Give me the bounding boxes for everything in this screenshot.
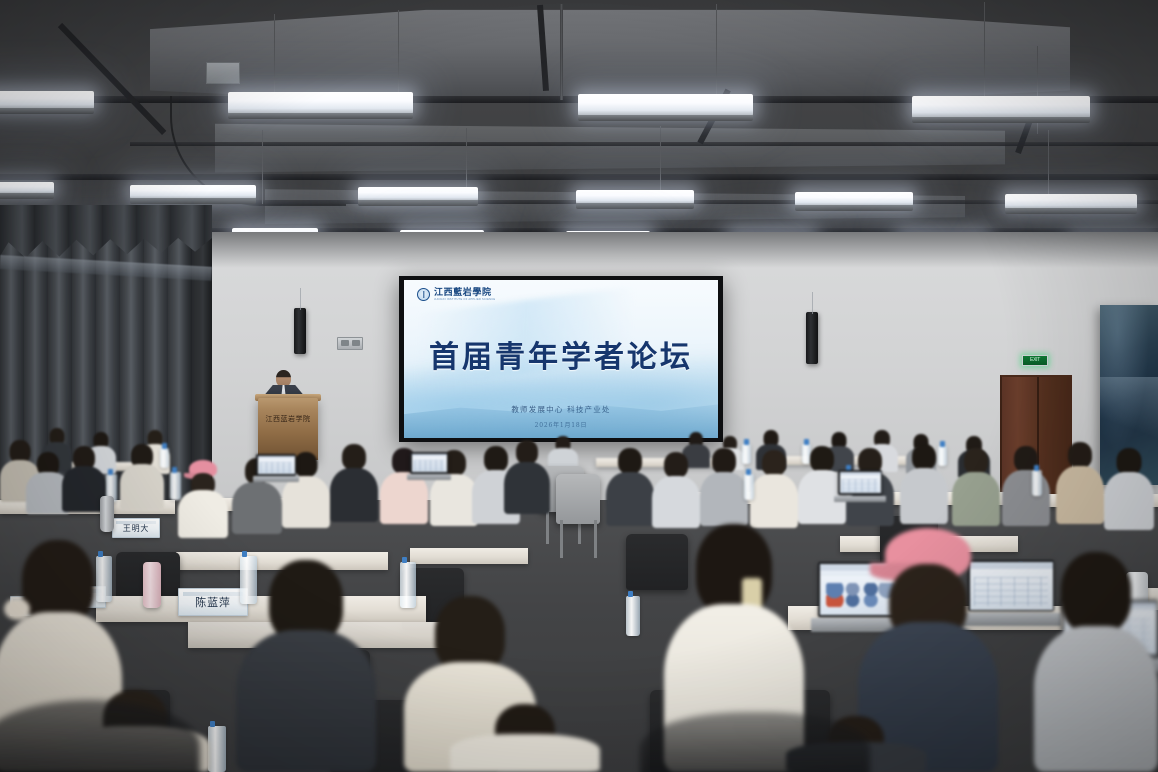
display-content: [414, 460, 445, 471]
attendee: [900, 444, 948, 524]
ceiling-lamp: [1005, 194, 1137, 209]
lamp-hanger-wire: [716, 4, 717, 96]
wall-speaker-left: [294, 308, 306, 354]
attendee: [1056, 442, 1104, 524]
table: [410, 548, 528, 564]
laptop-lid: [256, 454, 296, 476]
attendee-torso: [900, 468, 948, 524]
attendee: [750, 450, 798, 528]
laptop[interactable]: [256, 454, 296, 482]
attendee-torso: [750, 474, 798, 528]
laptop[interactable]: [838, 470, 882, 502]
laptop-lid: [410, 452, 448, 474]
attendee: [1034, 552, 1158, 772]
attendee: [450, 704, 600, 772]
emergency-light: [337, 337, 363, 350]
slide-organizers: 教师发展中心 科技产业处: [404, 404, 718, 415]
university-crest-icon: [417, 288, 430, 301]
placard-name: 王明大: [123, 523, 149, 534]
attendee-torso: [120, 464, 164, 510]
slide-date: 2026年1月18日: [404, 420, 718, 429]
attendee-head: [762, 450, 786, 476]
attendee: [700, 448, 748, 526]
attendee-with-cap: [178, 460, 228, 538]
display-content: [260, 462, 293, 473]
laptop-lid: [838, 470, 882, 495]
chair-leg: [594, 520, 597, 558]
lamp-hanger-wire: [660, 126, 661, 200]
attendee-torso: [1034, 626, 1158, 772]
attendee: [548, 436, 578, 470]
attendee-torso: [450, 734, 600, 772]
ceiling-beam: [0, 174, 1158, 180]
hvac-duct-main: [150, 8, 1070, 104]
lamp-hanger-wire: [398, 10, 399, 92]
attendee-head: [664, 452, 688, 478]
ceiling-lamp: [912, 96, 1090, 118]
laptop[interactable]: [410, 452, 448, 480]
slide-logo: 江西藍岩學院 JIANGXI INSTITUTE OF APPLIED SCIE…: [417, 288, 495, 301]
attendee-torso: [282, 476, 330, 528]
ceiling-lamp: [130, 185, 256, 199]
attendee-torso: [1104, 472, 1154, 530]
lamp-hanger-rod: [560, 4, 563, 100]
attendee-torso: [1056, 466, 1104, 524]
attendee: [1002, 446, 1050, 526]
slide-title: 首届青年学者论坛: [404, 332, 718, 376]
ceiling-lamp: [0, 91, 94, 109]
ceiling-lamp: [578, 94, 753, 116]
attendee-torso: [232, 482, 282, 534]
attendee: [652, 452, 700, 528]
laptop-display: [412, 454, 447, 473]
lamp-hanger-wire: [274, 14, 275, 92]
water-bottle: [1032, 470, 1042, 496]
projection-screen-frame: 江西藍岩學院 JIANGXI INSTITUTE OF APPLIED SCIE…: [399, 276, 723, 442]
attendee-torso: [504, 462, 550, 514]
water-bottle: [744, 474, 754, 500]
attendee-torso: [178, 490, 228, 538]
display-toolbar: [258, 456, 295, 459]
wall-speaker-right: [806, 312, 818, 364]
podium-plate: 江西蓝岩学院: [263, 414, 313, 425]
attendee-head: [342, 444, 366, 470]
institution-name: 江西藍岩學院: [434, 288, 495, 298]
attendee-head: [295, 452, 318, 477]
speaker-wire: [812, 292, 813, 314]
attendee-torso: [430, 474, 478, 526]
display-content: [842, 479, 878, 492]
attendee-torso: [330, 468, 378, 522]
laptop-base: [253, 476, 299, 482]
attendee-torso: [700, 472, 748, 526]
chair-leg: [560, 520, 563, 558]
laptop-display: [840, 472, 881, 494]
display-toolbar: [412, 454, 447, 457]
attendee: [330, 444, 378, 522]
ceiling-lamp: [0, 182, 54, 194]
attendee-head: [1061, 552, 1131, 634]
laptop-display: [258, 456, 295, 475]
attendee-head: [712, 448, 736, 474]
name-placard: 王明大: [112, 518, 160, 538]
ceiling-lamp: [576, 190, 694, 204]
attendee-head: [912, 444, 936, 470]
attendee: [952, 448, 1000, 526]
attendee: [120, 444, 164, 510]
speaker-wire: [300, 288, 301, 310]
display-toolbar: [840, 472, 881, 475]
attendee-torso: [652, 476, 700, 528]
thermos-tumbler: [100, 496, 114, 532]
chair[interactable]: [556, 474, 600, 524]
attendee-torso: [952, 472, 1000, 526]
attendee: [504, 440, 550, 514]
water-bottle: [208, 726, 226, 772]
water-bottle: [626, 596, 640, 636]
attendee-torso: [1002, 470, 1050, 526]
exit-sign-label: EXIT: [1023, 356, 1047, 365]
attendee-torso: [236, 630, 376, 772]
placard-name: 陈蓝萍: [195, 594, 230, 610]
presenter-head: [276, 370, 291, 387]
podium: 江西蓝岩学院: [258, 398, 318, 460]
laptop-base: [407, 474, 451, 480]
ceiling-lamp: [795, 192, 913, 206]
ceiling-lamp: [228, 92, 413, 114]
thermos-tumbler: [143, 562, 161, 608]
attendee: [236, 560, 376, 772]
lamp-hanger-wire: [984, 2, 985, 96]
water-bottle: [170, 472, 181, 500]
exit-sign-icon: EXIT: [1022, 355, 1048, 366]
projection-screen: 江西藍岩學院 JIANGXI INSTITUTE OF APPLIED SCIE…: [404, 280, 718, 438]
foreground-occluder-right: [640, 712, 870, 772]
attendee-head: [1117, 448, 1142, 475]
attendee: [1104, 448, 1154, 530]
ceiling-vent: [206, 62, 240, 84]
attendee-head: [964, 448, 988, 474]
ceiling-lamp: [358, 187, 478, 201]
attendee-head: [1068, 442, 1092, 468]
attendee-head: [516, 440, 538, 464]
conference-hall-scene: EXIT 江西藍岩學院 JIANGXI INSTITUTE OF APPLIED…: [0, 0, 1158, 772]
attendee-head: [810, 446, 834, 472]
attendee: [606, 448, 654, 526]
attendee-torso: [606, 472, 654, 526]
laptop-base: [834, 496, 885, 502]
institution-subtitle: JIANGXI INSTITUTE OF APPLIED SCIENCE: [434, 298, 495, 301]
attendee-head: [618, 448, 642, 474]
